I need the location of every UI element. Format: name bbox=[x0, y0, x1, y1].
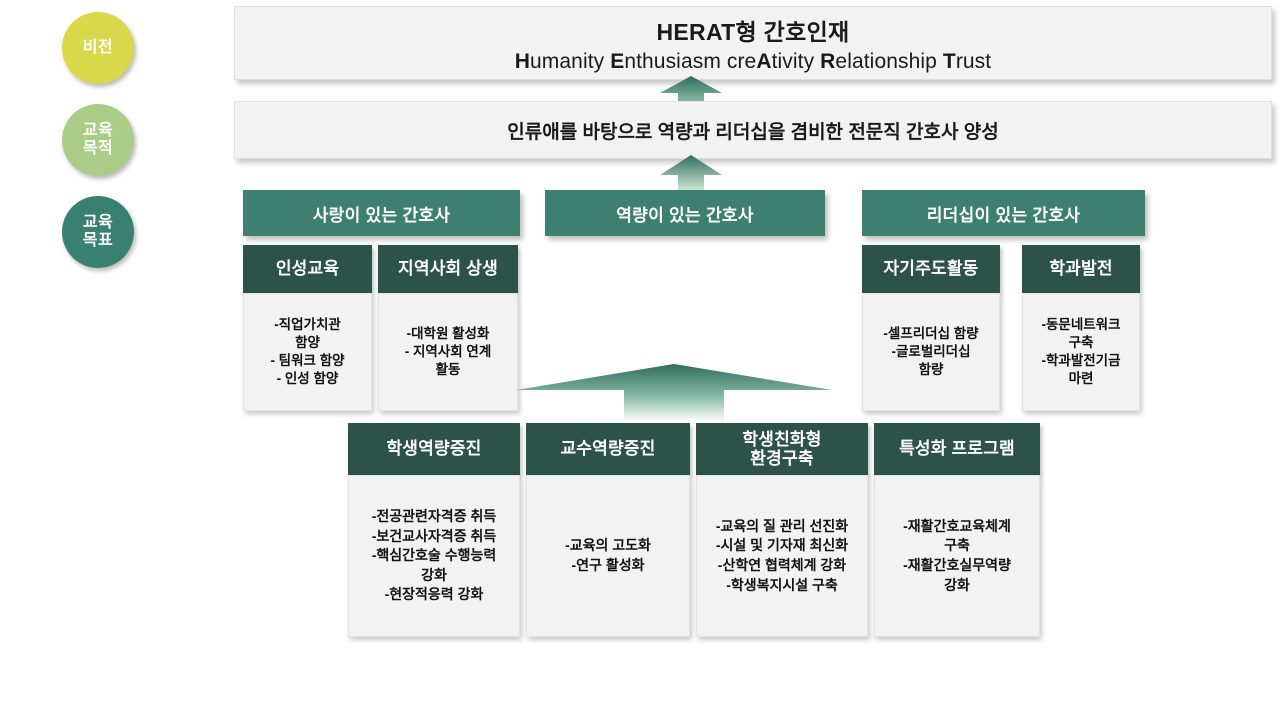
subgroup-body-jiyeok: -대학원 활성화 - 지역사회 연계 활동 bbox=[378, 293, 518, 411]
subgroup-body-department-development: -동문네트워크 구축 -학과발전기금 마련 bbox=[1022, 293, 1140, 411]
sidebar-circle-vision: 비전 bbox=[62, 12, 134, 84]
bottom-body-student-friendly-environment: -교육의 질 관리 선진화 -시설 및 기자재 최신화 -산학연 협력체계 강화… bbox=[696, 475, 868, 637]
bottom-header-student-friendly-environment: 학생친화형 환경구축 bbox=[696, 423, 868, 475]
subgroup-header-jiyeok: 지역사회 상생 bbox=[378, 245, 518, 293]
diagram-canvas: 비전 교육 목적 교육 목표 HERAT형 간호인재 Humanity Enth… bbox=[0, 0, 1280, 720]
bottom-column-specialized-program: 특성화 프로그램 -재활간호교육체계 구축 -재활간호실무역량 강화 bbox=[874, 423, 1040, 637]
bottom-column-faculty-competency: 교수역량증진 -교육의 고도화 -연구 활성화 bbox=[526, 423, 690, 637]
subgroup-inseong: 인성교육 -직업가치관 함양 - 팀워크 함양 - 인성 함양 bbox=[243, 245, 372, 411]
up-arrow-icon-vision bbox=[660, 76, 722, 104]
subgroup-body-inseong: -직업가치관 함양 - 팀워크 함양 - 인성 함양 bbox=[243, 293, 372, 411]
vision-acronym: Humanity Enthusiasm creAtivity Relations… bbox=[515, 50, 991, 74]
category-header-competency: 역량이 있는 간호사 bbox=[545, 190, 825, 236]
bottom-body-specialized-program: -재활간호교육체계 구축 -재활간호실무역량 강화 bbox=[874, 475, 1040, 637]
subgroup-header-inseong: 인성교육 bbox=[243, 245, 372, 293]
purpose-text: 인류애를 바탕으로 역량과 리더십을 겸비한 전문직 간호사 양성 bbox=[507, 117, 998, 144]
bottom-header-student-competency: 학생역량증진 bbox=[348, 423, 520, 475]
bottom-column-student-friendly-environment: 학생친화형 환경구축 -교육의 질 관리 선진화 -시설 및 기자재 최신화 -… bbox=[696, 423, 868, 637]
subgroup-self-directed: 자기주도활동 -셀프리더십 함량 -글로벌리더십 함량 bbox=[862, 245, 1000, 411]
category-header-love: 사랑이 있는 간호사 bbox=[243, 190, 520, 236]
vision-banner: HERAT형 간호인재 Humanity Enthusiasm creAtivi… bbox=[234, 6, 1272, 80]
up-arrow-icon-purpose bbox=[660, 155, 722, 190]
bottom-header-specialized-program: 특성화 프로그램 bbox=[874, 423, 1040, 475]
bottom-column-student-competency: 학생역량증진 -전공관련자격증 취득 -보건교사자격증 취득 -핵심간호술 수행… bbox=[348, 423, 520, 637]
sidebar-circle-purpose: 교육 목적 bbox=[62, 104, 134, 176]
subgroup-header-department-development: 학과발전 bbox=[1022, 245, 1140, 293]
subgroup-department-development: 학과발전 -동문네트워크 구축 -학과발전기금 마련 bbox=[1022, 245, 1140, 411]
bottom-header-faculty-competency: 교수역량증진 bbox=[526, 423, 690, 475]
sidebar-circle-goal: 교육 목표 bbox=[62, 196, 134, 268]
subgroup-body-self-directed: -셀프리더십 함량 -글로벌리더십 함량 bbox=[862, 293, 1000, 411]
bottom-body-faculty-competency: -교육의 고도화 -연구 활성화 bbox=[526, 475, 690, 637]
vision-title: HERAT형 간호인재 bbox=[656, 13, 849, 47]
purpose-banner: 인류애를 바탕으로 역량과 리더십을 겸비한 전문직 간호사 양성 bbox=[234, 101, 1272, 159]
bottom-body-student-competency: -전공관련자격증 취득 -보건교사자격증 취득 -핵심간호술 수행능력 강화 -… bbox=[348, 475, 520, 637]
category-header-leadership: 리더십이 있는 간호사 bbox=[862, 190, 1145, 236]
subgroup-header-self-directed: 자기주도활동 bbox=[862, 245, 1000, 293]
wide-up-arrow-icon bbox=[516, 360, 832, 422]
subgroup-jiyeok: 지역사회 상생 -대학원 활성화 - 지역사회 연계 활동 bbox=[378, 245, 518, 411]
